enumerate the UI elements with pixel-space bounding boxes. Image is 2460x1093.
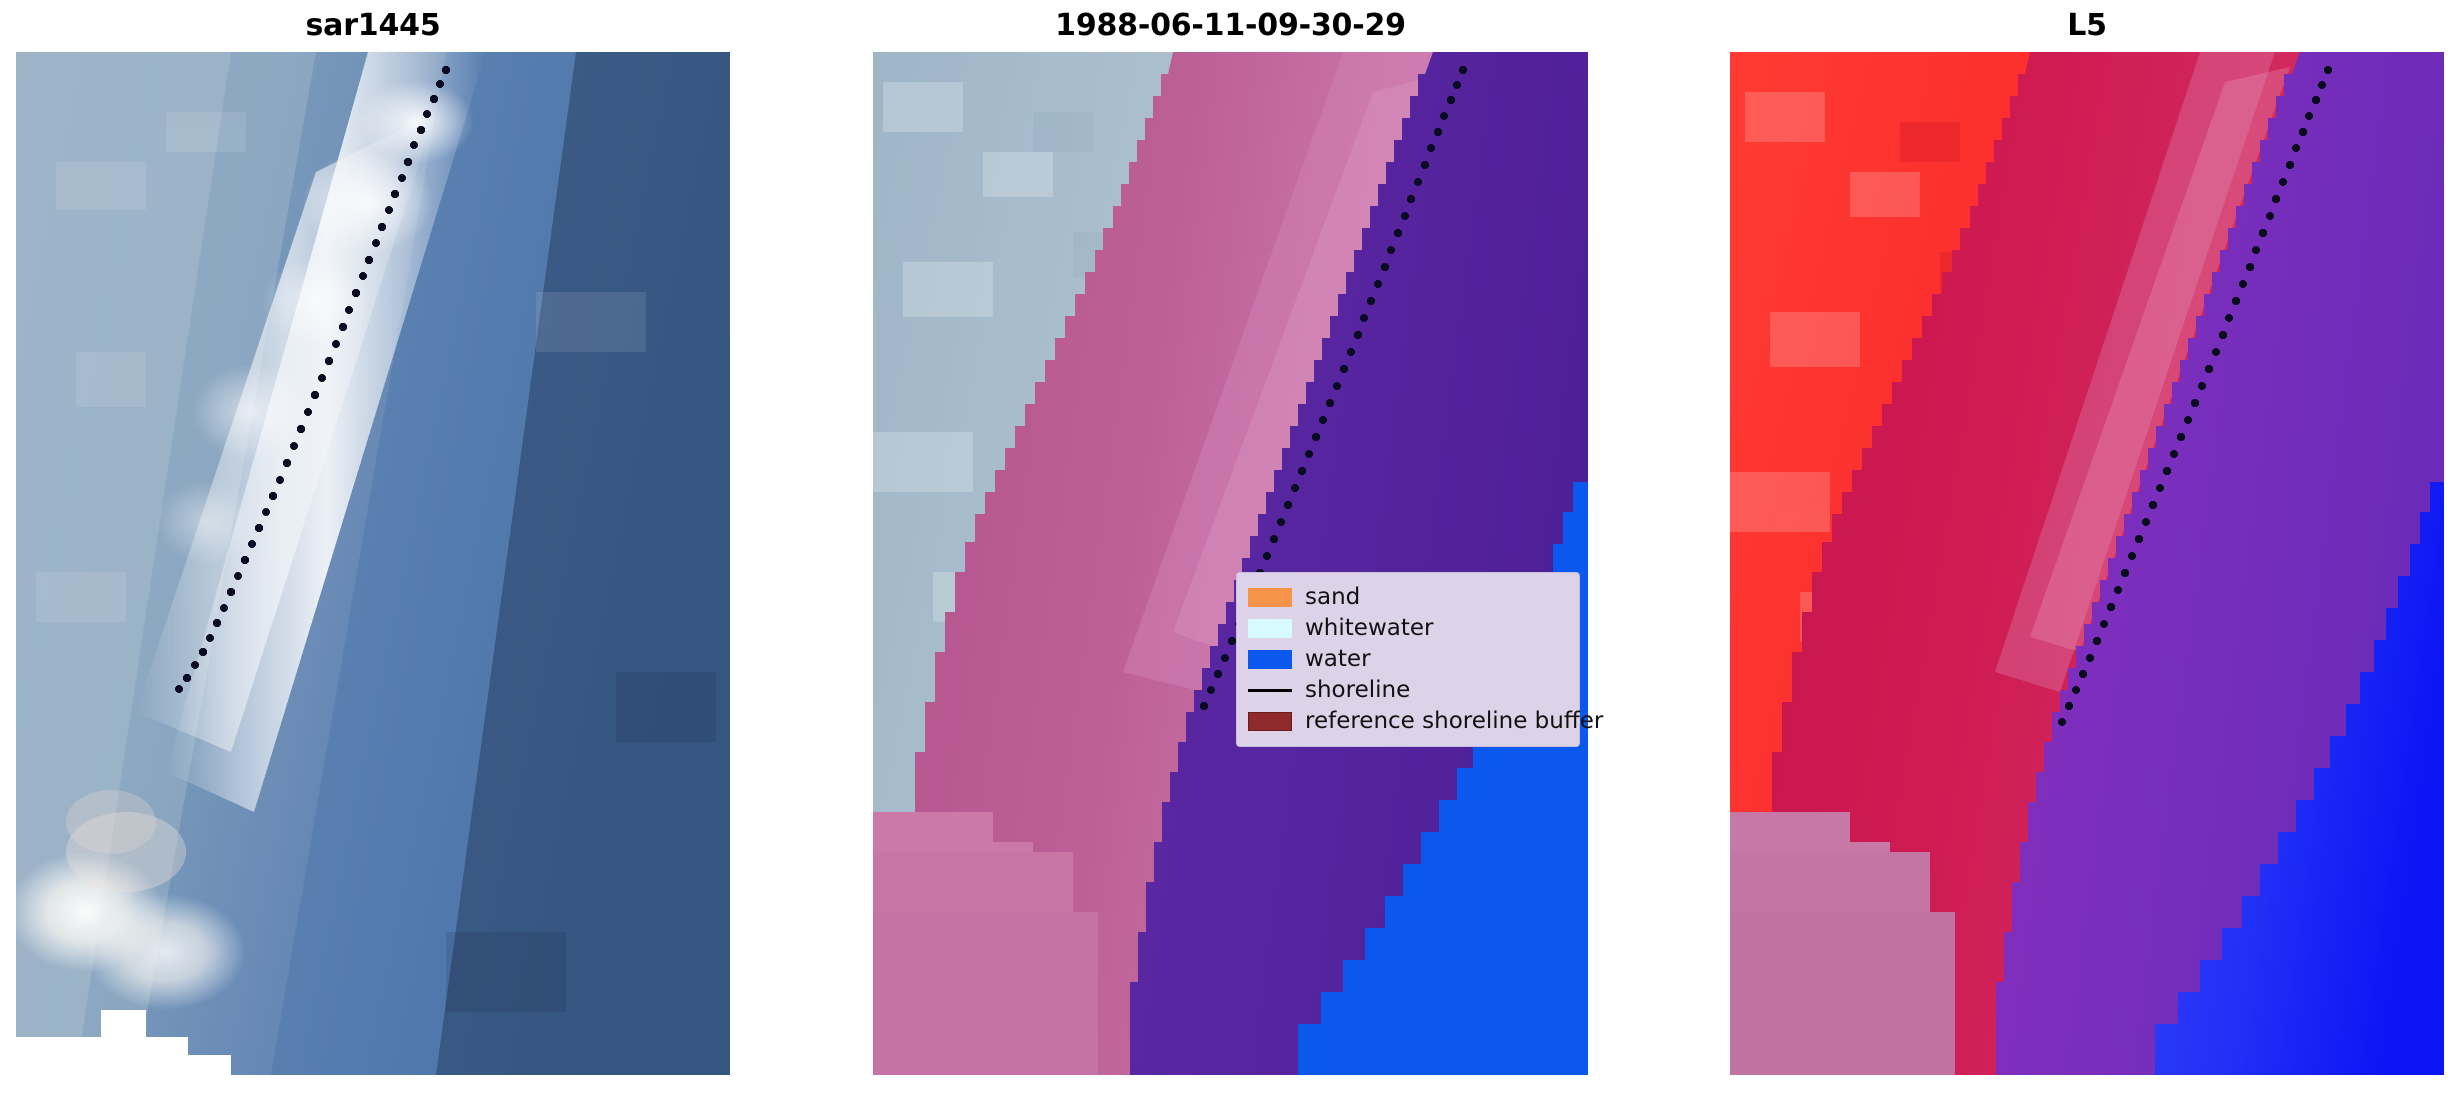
panel-title-classified: 1988-06-11-09-30-29 bbox=[873, 6, 1588, 46]
whitewater-swatch-icon bbox=[1248, 619, 1292, 638]
panel-classified bbox=[873, 52, 1588, 1075]
legend-item-water: water bbox=[1248, 644, 1569, 675]
legend-item-reference-buffer: reference shoreline buffer bbox=[1248, 706, 1569, 737]
reference-buffer-swatch-icon bbox=[1248, 712, 1292, 731]
sar-raster-image bbox=[16, 52, 730, 1075]
legend-label-reference-buffer: reference shoreline buffer bbox=[1305, 710, 1603, 733]
legend-item-whitewater: whitewater bbox=[1248, 613, 1569, 644]
legend-box: sand whitewater water shoreline referenc… bbox=[1236, 572, 1580, 747]
panel-sar bbox=[16, 52, 730, 1075]
legend-label-shoreline: shoreline bbox=[1305, 679, 1410, 702]
shoreline-line-icon bbox=[1248, 681, 1292, 700]
figure-canvas: sar1445 bbox=[0, 0, 2460, 1093]
legend-item-sand: sand bbox=[1248, 582, 1569, 613]
panel-title-sar: sar1445 bbox=[16, 6, 730, 46]
water-swatch-icon bbox=[1248, 650, 1292, 669]
sand-swatch-icon bbox=[1248, 588, 1292, 607]
legend-label-water: water bbox=[1305, 648, 1371, 671]
legend-label-whitewater: whitewater bbox=[1305, 617, 1433, 640]
panel-title-l5: L5 bbox=[1730, 6, 2444, 46]
legend-item-shoreline: shoreline bbox=[1248, 675, 1569, 706]
legend-label-sand: sand bbox=[1305, 586, 1360, 609]
l5-raster-image bbox=[1730, 52, 2444, 1075]
classified-raster-image bbox=[873, 52, 1588, 1075]
panel-l5 bbox=[1730, 52, 2444, 1075]
